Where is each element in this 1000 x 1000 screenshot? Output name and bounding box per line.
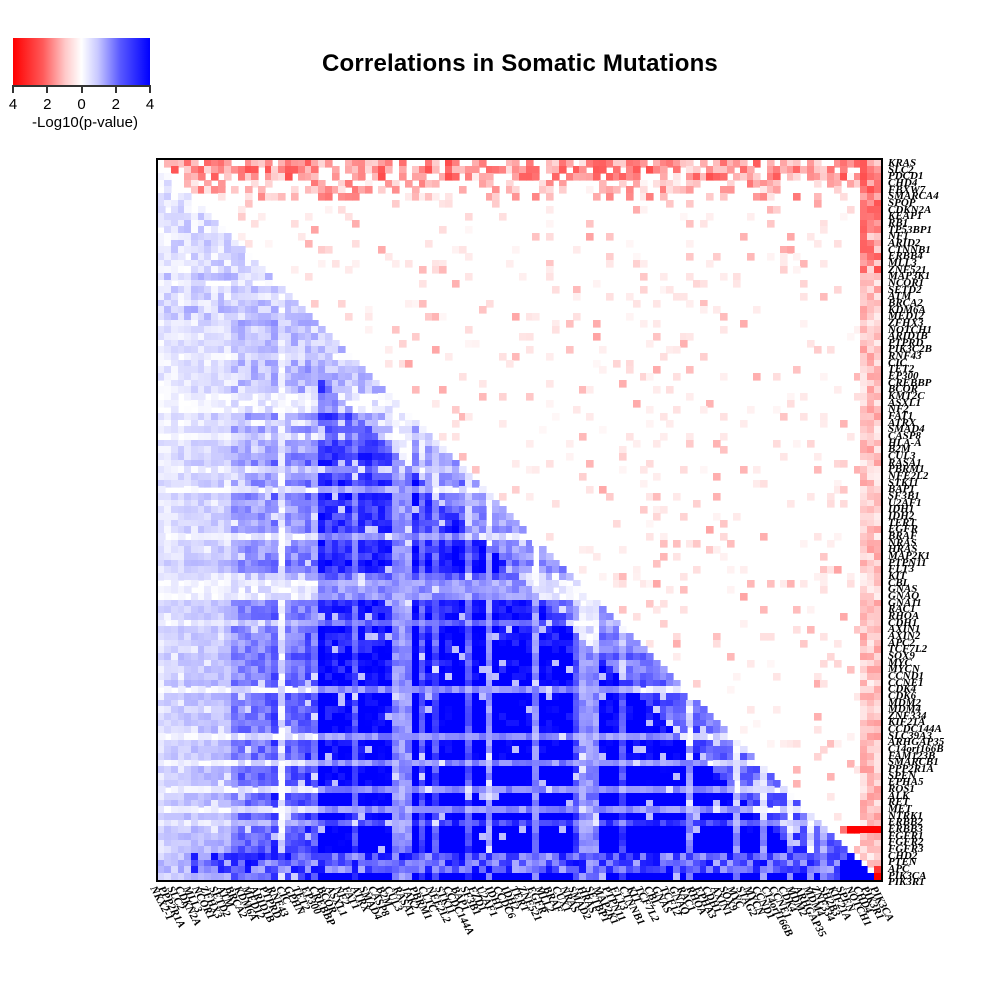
column-gene-labels: NKX2-1PPP2R1ASLC2CDKN2AMLL3NCOR1ZFHX3SET…	[150, 884, 910, 1000]
colorbar-tick	[46, 85, 48, 93]
colorbar-axis	[13, 85, 150, 93]
colorbar-tick	[81, 85, 83, 93]
colorbar-tick-label: 2	[106, 96, 126, 113]
colorbar-tick-label: 4	[140, 96, 160, 113]
chart-stage: 42024 -Log10(p-value) Correlations in So…	[0, 0, 1000, 1000]
heatmap-plot-area	[156, 158, 883, 882]
colorbar-tick	[115, 85, 117, 93]
colorbar-gradient	[13, 38, 150, 85]
colorbar-tick-label: 0	[72, 96, 92, 113]
row-gene-labels: KRASSLC2PDCD1CHD4FBXW7SMARCA4SPOPCDKN2AK…	[886, 152, 1000, 892]
colorbar-tick-label: 4	[3, 96, 23, 113]
page-title: Correlations in Somatic Mutations	[150, 50, 890, 78]
colorbar-legend	[13, 38, 150, 85]
colorbar-tick	[149, 85, 151, 93]
colorbar-title: -Log10(p-value)	[0, 114, 170, 131]
colorbar-tick	[12, 85, 14, 93]
heatmap-matrix	[158, 160, 881, 880]
colorbar-tick-labels: 42024	[0, 96, 165, 114]
colorbar-tick-label: 2	[37, 96, 57, 113]
